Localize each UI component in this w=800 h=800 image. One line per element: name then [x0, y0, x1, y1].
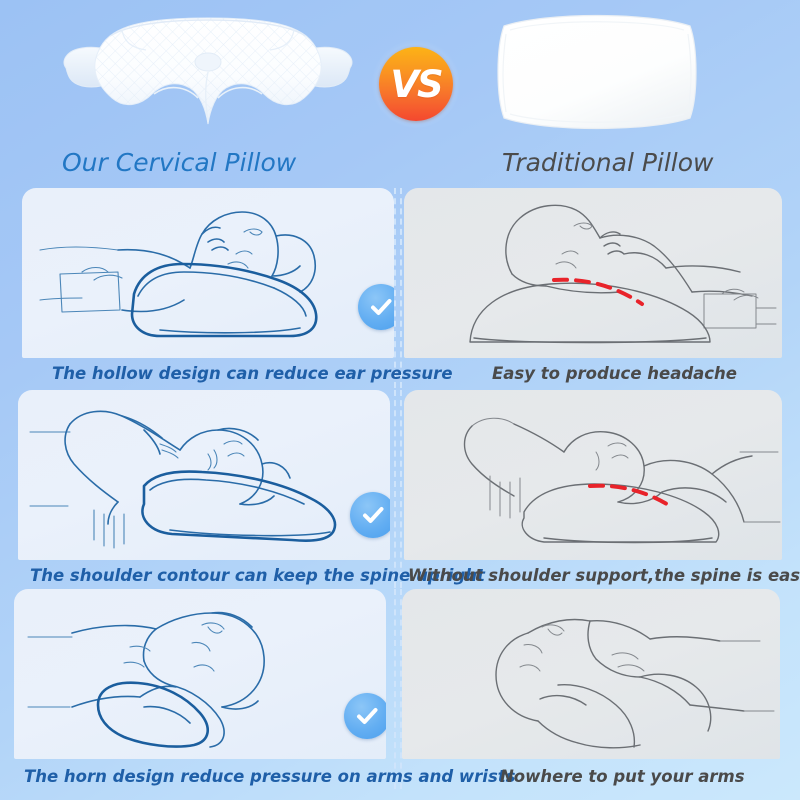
bad-caption-1: Easy to produce headache [492, 364, 737, 383]
cervical-pillow-photo [58, 6, 358, 138]
panel-divider-left [394, 589, 396, 789]
comparison-row-2: The shoulder contour can keep the spine … [0, 390, 800, 588]
arms-unsupported-illustration [402, 589, 780, 759]
check-badge-3 [344, 693, 386, 739]
side-sleeper-no-support-illustration [404, 390, 782, 560]
bad-panel-2 [404, 390, 782, 560]
good-caption-3: The horn design reduce pressure on arms … [24, 767, 516, 786]
side-sleeper-shoulder-contour-illustration [18, 390, 390, 560]
bad-caption-3: Nowhere to put your arms [500, 767, 745, 786]
traditional-pillow-photo [488, 4, 706, 140]
panel-divider-left [394, 390, 396, 588]
bad-caption-2: Without shoulder support,the spine is ea… [408, 566, 800, 585]
panel-divider-right [400, 188, 402, 388]
bad-panel-1 [404, 188, 782, 358]
back-sleeper-cervical-illustration [22, 188, 394, 358]
comparison-row-1: The hollow design can reduce ear pressur… [0, 188, 800, 388]
check-badge-2 [350, 492, 390, 538]
good-panel-2 [18, 390, 390, 560]
good-panel-3 [14, 589, 386, 759]
comparison-row-3: The horn design reduce pressure on arms … [0, 589, 800, 789]
our-pillow-title: Our Cervical Pillow [62, 148, 296, 177]
arms-in-horn-cutout-illustration [14, 589, 386, 759]
check-icon [353, 702, 381, 730]
check-icon [359, 501, 387, 529]
hero-section: VS Our Cervical Pillow Traditional Pillo… [0, 0, 800, 190]
panel-divider-left [394, 188, 396, 388]
traditional-pillow-title: Traditional Pillow [502, 148, 714, 177]
vs-label: VS [390, 66, 441, 103]
vs-badge: VS [372, 40, 460, 128]
good-panel-1 [22, 188, 394, 358]
back-sleeper-flat-pillow-illustration [404, 188, 782, 358]
good-caption-1: The hollow design can reduce ear pressur… [52, 364, 453, 383]
bad-panel-3 [402, 589, 780, 759]
check-icon [367, 293, 394, 321]
comparison-infographic: VS Our Cervical Pillow Traditional Pillo… [0, 0, 800, 800]
panel-divider-right [400, 390, 402, 588]
